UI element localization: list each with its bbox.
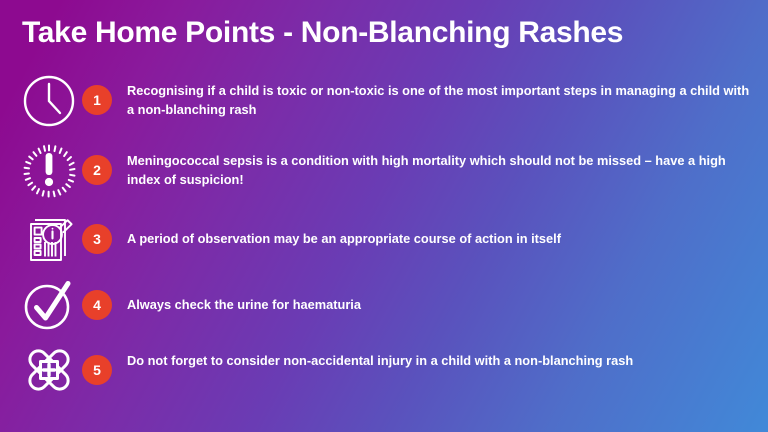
point-number-badge: 5 bbox=[82, 355, 112, 385]
point-text: A period of observation may be an approp… bbox=[127, 230, 752, 249]
alert-exclamation-icon bbox=[18, 140, 80, 202]
point-text: Meningococcal sepsis is a condition with… bbox=[127, 152, 752, 189]
point-text: Do not forget to consider non-accidental… bbox=[127, 352, 752, 371]
point-number-badge: 2 bbox=[82, 155, 112, 185]
point-number-badge: 4 bbox=[82, 290, 112, 320]
document-magnifier-icon bbox=[18, 208, 80, 270]
clock-icon bbox=[18, 70, 80, 132]
point-number-badge: 1 bbox=[82, 85, 112, 115]
bandage-plaster-icon bbox=[18, 339, 80, 401]
page-title: Take Home Points - Non-Blanching Rashes bbox=[22, 16, 623, 49]
slide-canvas: Take Home Points - Non-Blanching Rashes … bbox=[0, 0, 768, 432]
point-number-badge: 3 bbox=[82, 224, 112, 254]
check-circle-icon bbox=[18, 274, 80, 336]
point-text: Always check the urine for haematuria bbox=[127, 296, 752, 315]
point-text: Recognising if a child is toxic or non-t… bbox=[127, 82, 752, 119]
